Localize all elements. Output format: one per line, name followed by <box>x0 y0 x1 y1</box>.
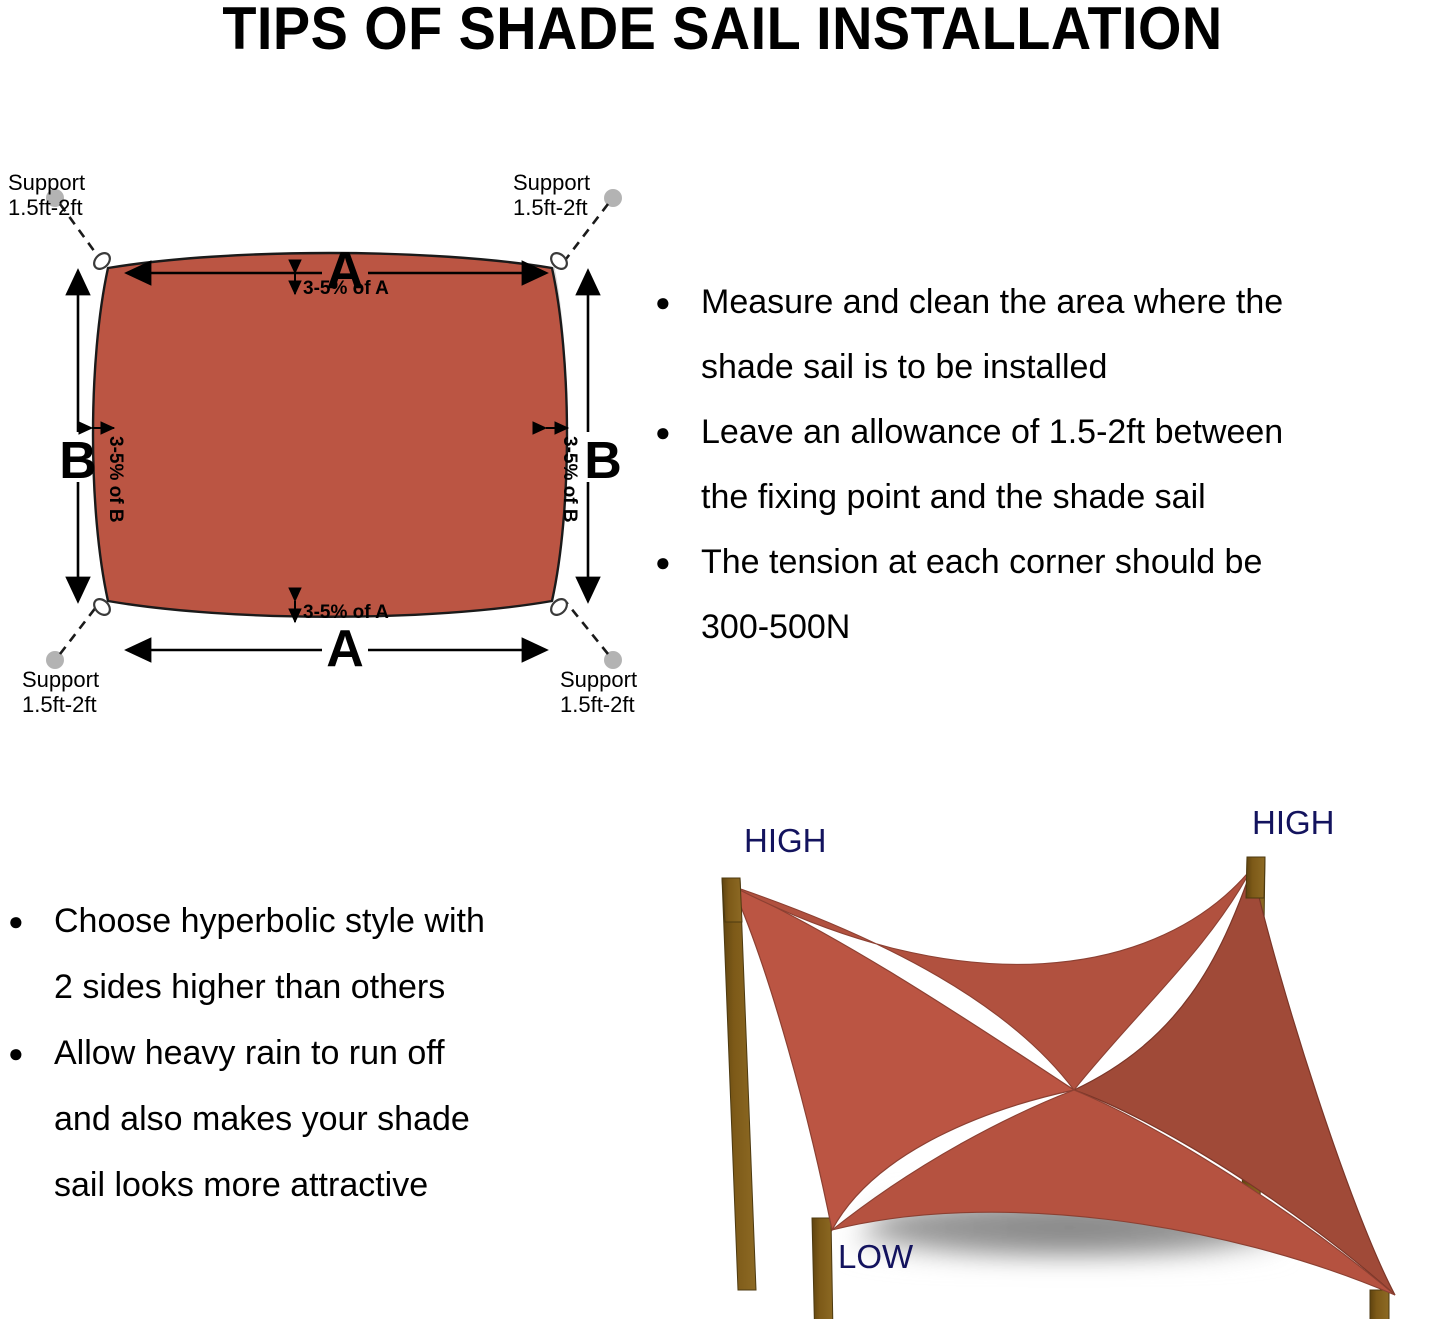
support-top-right-line2: 1.5ft-2ft <box>513 195 588 220</box>
bullet-dot-icon: ● <box>655 530 681 595</box>
curve-depth-bottom: 3-5% of A <box>295 601 389 623</box>
support-bottom-left-line2: 1.5ft-2ft <box>22 692 97 717</box>
list-item: ● Measure and clean the area where the s… <box>655 270 1445 400</box>
tip-line: sail looks more attractive <box>54 1152 628 1218</box>
curve-depth-bottom-label: 3-5% of A <box>303 602 389 623</box>
tips-list-bottom-left: ● Choose hyperbolic style with 2 sides h… <box>8 888 628 1218</box>
shade-sail-shape <box>93 253 567 617</box>
hyperbolic-sail-illustration: HIGH HIGH LOW LOW <box>660 790 1445 1319</box>
dimension-a-bottom-label: A <box>326 620 364 678</box>
curve-depth-left-label: 3-5% of B <box>105 436 126 523</box>
post-high-left <box>722 878 756 1290</box>
dimension-b-left: B <box>59 272 97 600</box>
tip-line: Allow heavy rain to run off <box>54 1020 628 1086</box>
tip-line: shade sail is to be installed <box>701 335 1445 400</box>
dimension-b-right: B <box>584 272 622 600</box>
label-high-left: HIGH <box>744 822 827 859</box>
curve-depth-right-label: 3-5% of B <box>559 436 580 523</box>
list-item: ● The tension at each corner should be 3… <box>655 530 1445 660</box>
bullet-dot-icon: ● <box>655 400 681 465</box>
label-high-right: HIGH <box>1252 804 1335 841</box>
list-item: ● Leave an allowance of 1.5-2ft between … <box>655 400 1445 530</box>
curve-depth-top-label: 3-5% of A <box>303 278 389 299</box>
list-item: ● Choose hyperbolic style with 2 sides h… <box>8 888 628 1020</box>
rectangular-sail-diagram: Support 1.5ft-2ft Support 1.5ft-2ft Supp… <box>0 160 680 740</box>
tip-line: Leave an allowance of 1.5-2ft between <box>701 400 1445 465</box>
post-low-right <box>1370 1290 1389 1319</box>
bullet-dot-icon: ● <box>8 888 34 954</box>
tip-line: and also makes your shade <box>54 1086 628 1152</box>
tips-list-right: ● Measure and clean the area where the s… <box>655 270 1445 660</box>
bullet-dot-icon: ● <box>8 1020 34 1086</box>
dimension-a-bottom: A <box>128 620 545 678</box>
support-top-left-line2: 1.5ft-2ft <box>8 195 83 220</box>
tip-line: the fixing point and the shade sail <box>701 465 1445 530</box>
tip-line: 300-500N <box>701 595 1445 660</box>
support-bottom-right-line1: Support <box>560 667 637 692</box>
support-top-right-line1: Support <box>513 170 590 195</box>
list-item: ● Allow heavy rain to run off and also m… <box>8 1020 628 1218</box>
page-title: TIPS OF SHADE SAIL INSTALLATION <box>51 0 1395 62</box>
tip-line: Choose hyperbolic style with <box>54 888 628 954</box>
dimension-b-right-label: B <box>584 432 622 490</box>
tip-line: The tension at each corner should be <box>701 530 1445 595</box>
infographic-page: TIPS OF SHADE SAIL INSTALLATION <box>0 0 1445 1319</box>
tip-line: 2 sides higher than others <box>54 954 628 1020</box>
dimension-b-left-label: B <box>59 432 97 490</box>
tip-line: Measure and clean the area where the <box>701 270 1445 335</box>
label-low-left: LOW <box>838 1238 914 1275</box>
bullet-dot-icon: ● <box>655 270 681 335</box>
support-line-bottom-right <box>566 602 608 654</box>
support-bottom-left-line1: Support <box>22 667 99 692</box>
support-top-left-line1: Support <box>8 170 85 195</box>
support-bottom-right-line2: 1.5ft-2ft <box>560 692 635 717</box>
support-line-bottom-left <box>60 602 100 654</box>
